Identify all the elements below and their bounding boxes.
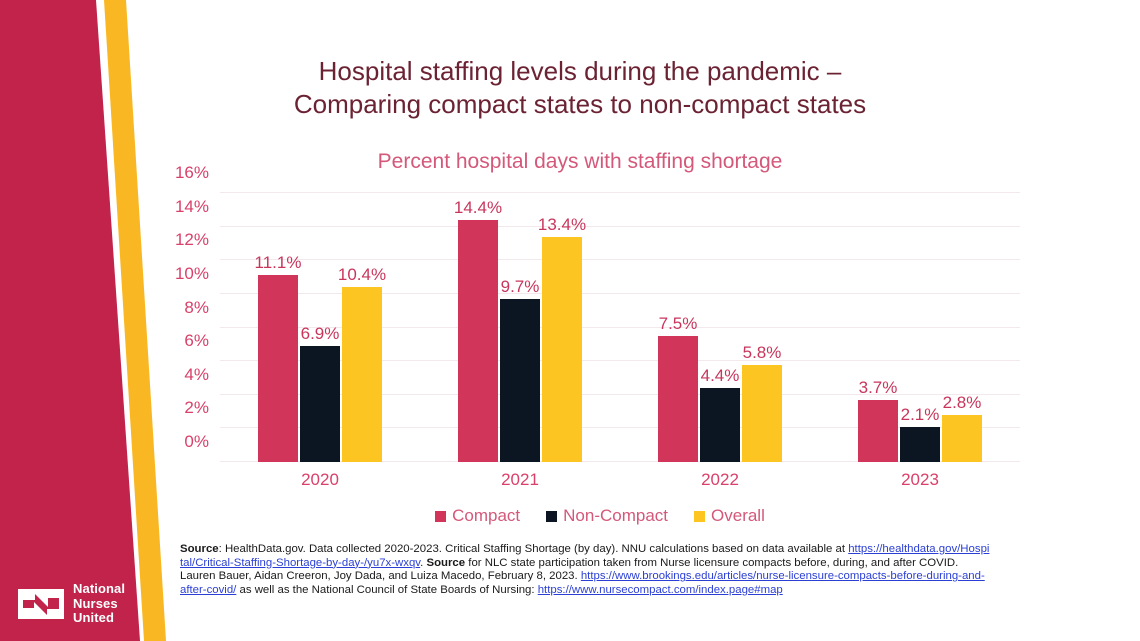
bar-value-label: 10.4% — [338, 265, 386, 285]
x-axis-label-2021: 2021 — [501, 470, 539, 490]
page-title: Hospital staffing levels during the pand… — [180, 55, 980, 121]
source-label-2: Source — [426, 557, 465, 569]
bar-value-label: 6.9% — [301, 324, 340, 344]
legend-item-compact[interactable]: Compact — [435, 506, 520, 526]
bar-group-2022: 7.5%4.4%5.8%2022 — [620, 193, 820, 462]
y-axis-label: 16% — [175, 163, 209, 183]
y-axis-label: 12% — [175, 230, 209, 250]
bar-value-label: 11.1% — [255, 253, 302, 273]
y-axis-label: 8% — [184, 298, 209, 318]
bar-group-2023: 3.7%2.1%2.8%2023 — [820, 193, 1020, 462]
x-axis-label-2023: 2023 — [901, 470, 939, 490]
bar-compact-2020[interactable]: 11.1% — [258, 275, 298, 462]
x-axis-label-2022: 2022 — [701, 470, 739, 490]
legend-label: Non-Compact — [563, 506, 668, 526]
nnu-logo-mark — [18, 585, 64, 623]
y-axis-label: 14% — [175, 197, 209, 217]
y-axis-label: 2% — [184, 398, 209, 418]
bar-compact-2021[interactable]: 14.4% — [458, 220, 498, 462]
y-axis-label: 6% — [184, 331, 209, 351]
bar-compact-2023[interactable]: 3.7% — [858, 400, 898, 462]
bar-value-label: 2.8% — [943, 393, 982, 413]
y-axis-label: 4% — [184, 365, 209, 385]
source-label-1: Source — [180, 543, 219, 555]
source-link-3[interactable]: https://www.nursecompact.com/index.page#… — [538, 584, 783, 596]
legend-swatch-icon — [694, 511, 705, 522]
bar-value-label: 9.7% — [501, 277, 540, 297]
chart-subtitle: Percent hospital days with staffing shor… — [180, 150, 980, 174]
x-axis-label-2020: 2020 — [301, 470, 339, 490]
legend-item-overall[interactable]: Overall — [694, 506, 765, 526]
bar-chart: 0%2%4%6%8%10%12%14%16%11.1%6.9%10.4%2020… — [175, 185, 1025, 495]
legend-swatch-icon — [546, 511, 557, 522]
logo: National Nurses United — [18, 582, 125, 625]
source-text-1: : HealthData.gov. Data collected 2020-20… — [219, 543, 849, 555]
y-axis-label: 0% — [184, 432, 209, 452]
plot-area: 0%2%4%6%8%10%12%14%16%11.1%6.9%10.4%2020… — [220, 193, 1020, 462]
source-text-4: as well as the National Council of State… — [236, 584, 537, 596]
bar-overall-2023[interactable]: 2.8% — [942, 415, 982, 462]
bar-value-label: 4.4% — [701, 366, 740, 386]
bar-non-compact-2023[interactable]: 2.1% — [900, 427, 940, 462]
logo-line-1: National — [73, 582, 125, 596]
logo-line-3: United — [73, 611, 125, 625]
chart-legend: CompactNon-CompactOverall — [175, 506, 1025, 526]
bar-overall-2021[interactable]: 13.4% — [542, 237, 582, 462]
bar-overall-2020[interactable]: 10.4% — [342, 287, 382, 462]
bar-value-label: 5.8% — [743, 343, 782, 363]
legend-swatch-icon — [435, 511, 446, 522]
legend-item-non-compact[interactable]: Non-Compact — [546, 506, 668, 526]
bar-value-label: 2.1% — [901, 405, 940, 425]
y-axis-label: 10% — [175, 264, 209, 284]
slide: National Nurses United Hospital staffing… — [0, 0, 1140, 641]
logo-text: National Nurses United — [73, 582, 125, 625]
bar-overall-2022[interactable]: 5.8% — [742, 365, 782, 463]
bar-non-compact-2021[interactable]: 9.7% — [500, 299, 540, 462]
bar-group-2021: 14.4%9.7%13.4%2021 — [420, 193, 620, 462]
left-decoration — [0, 0, 200, 641]
bar-non-compact-2020[interactable]: 6.9% — [300, 346, 340, 462]
bar-value-label: 14.4% — [454, 198, 502, 218]
legend-label: Compact — [452, 506, 520, 526]
bar-value-label: 3.7% — [859, 378, 898, 398]
title-line-2: Comparing compact states to non-compact … — [180, 88, 980, 121]
logo-line-2: Nurses — [73, 597, 125, 611]
bar-value-label: 7.5% — [659, 314, 698, 334]
bar-non-compact-2022[interactable]: 4.4% — [700, 388, 740, 462]
bar-compact-2022[interactable]: 7.5% — [658, 336, 698, 462]
legend-label: Overall — [711, 506, 765, 526]
bar-group-2020: 11.1%6.9%10.4%2020 — [220, 193, 420, 462]
source-note: Source: HealthData.gov. Data collected 2… — [180, 543, 990, 597]
bar-value-label: 13.4% — [538, 215, 586, 235]
title-line-1: Hospital staffing levels during the pand… — [180, 55, 980, 88]
